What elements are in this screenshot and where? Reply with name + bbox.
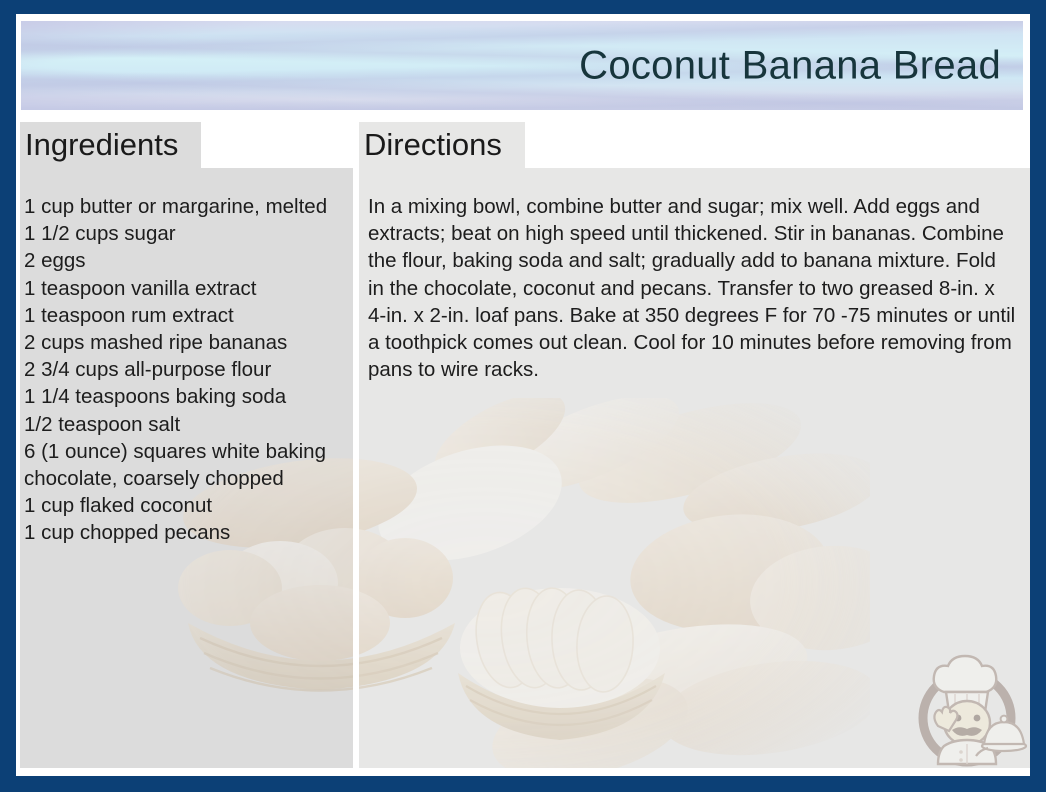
- ingredients-list: 1 cup butter or margarine, melted 1 1/2 …: [24, 193, 349, 547]
- ingredients-heading: Ingredients: [20, 122, 201, 168]
- border-right: [1030, 0, 1046, 792]
- list-item: 1 cup butter or margarine, melted: [24, 193, 349, 220]
- list-item: 1 cup flaked coconut: [24, 492, 349, 519]
- list-item: 2 3/4 cups all-purpose flour: [24, 356, 349, 383]
- list-item: 6 (1 ounce) squares white baking chocola…: [24, 438, 349, 492]
- list-item: 2 cups mashed ripe bananas: [24, 329, 349, 356]
- directions-heading-label: Directions: [359, 127, 502, 163]
- list-item: 1 1/2 cups sugar: [24, 220, 349, 247]
- list-item: 1/2 teaspoon salt: [24, 411, 349, 438]
- panel-divider: [353, 168, 359, 768]
- list-item: 1 1/4 teaspoons baking soda: [24, 383, 349, 410]
- list-item: 1 teaspoon rum extract: [24, 302, 349, 329]
- recipe-title: Coconut Banana Bread: [579, 43, 1001, 88]
- border-top: [0, 0, 1046, 14]
- recipe-card: Coconut Banana Bread: [0, 0, 1046, 792]
- list-item: 1 cup chopped pecans: [24, 519, 349, 546]
- border-left: [0, 0, 16, 792]
- list-item: 2 eggs: [24, 247, 349, 274]
- directions-body: In a mixing bowl, combine butter and sug…: [368, 193, 1016, 383]
- directions-heading: Directions: [359, 122, 525, 168]
- list-item: 1 teaspoon vanilla extract: [24, 275, 349, 302]
- ingredients-heading-label: Ingredients: [20, 127, 178, 163]
- title-banner: Coconut Banana Bread: [21, 21, 1023, 110]
- border-bottom: [0, 776, 1046, 792]
